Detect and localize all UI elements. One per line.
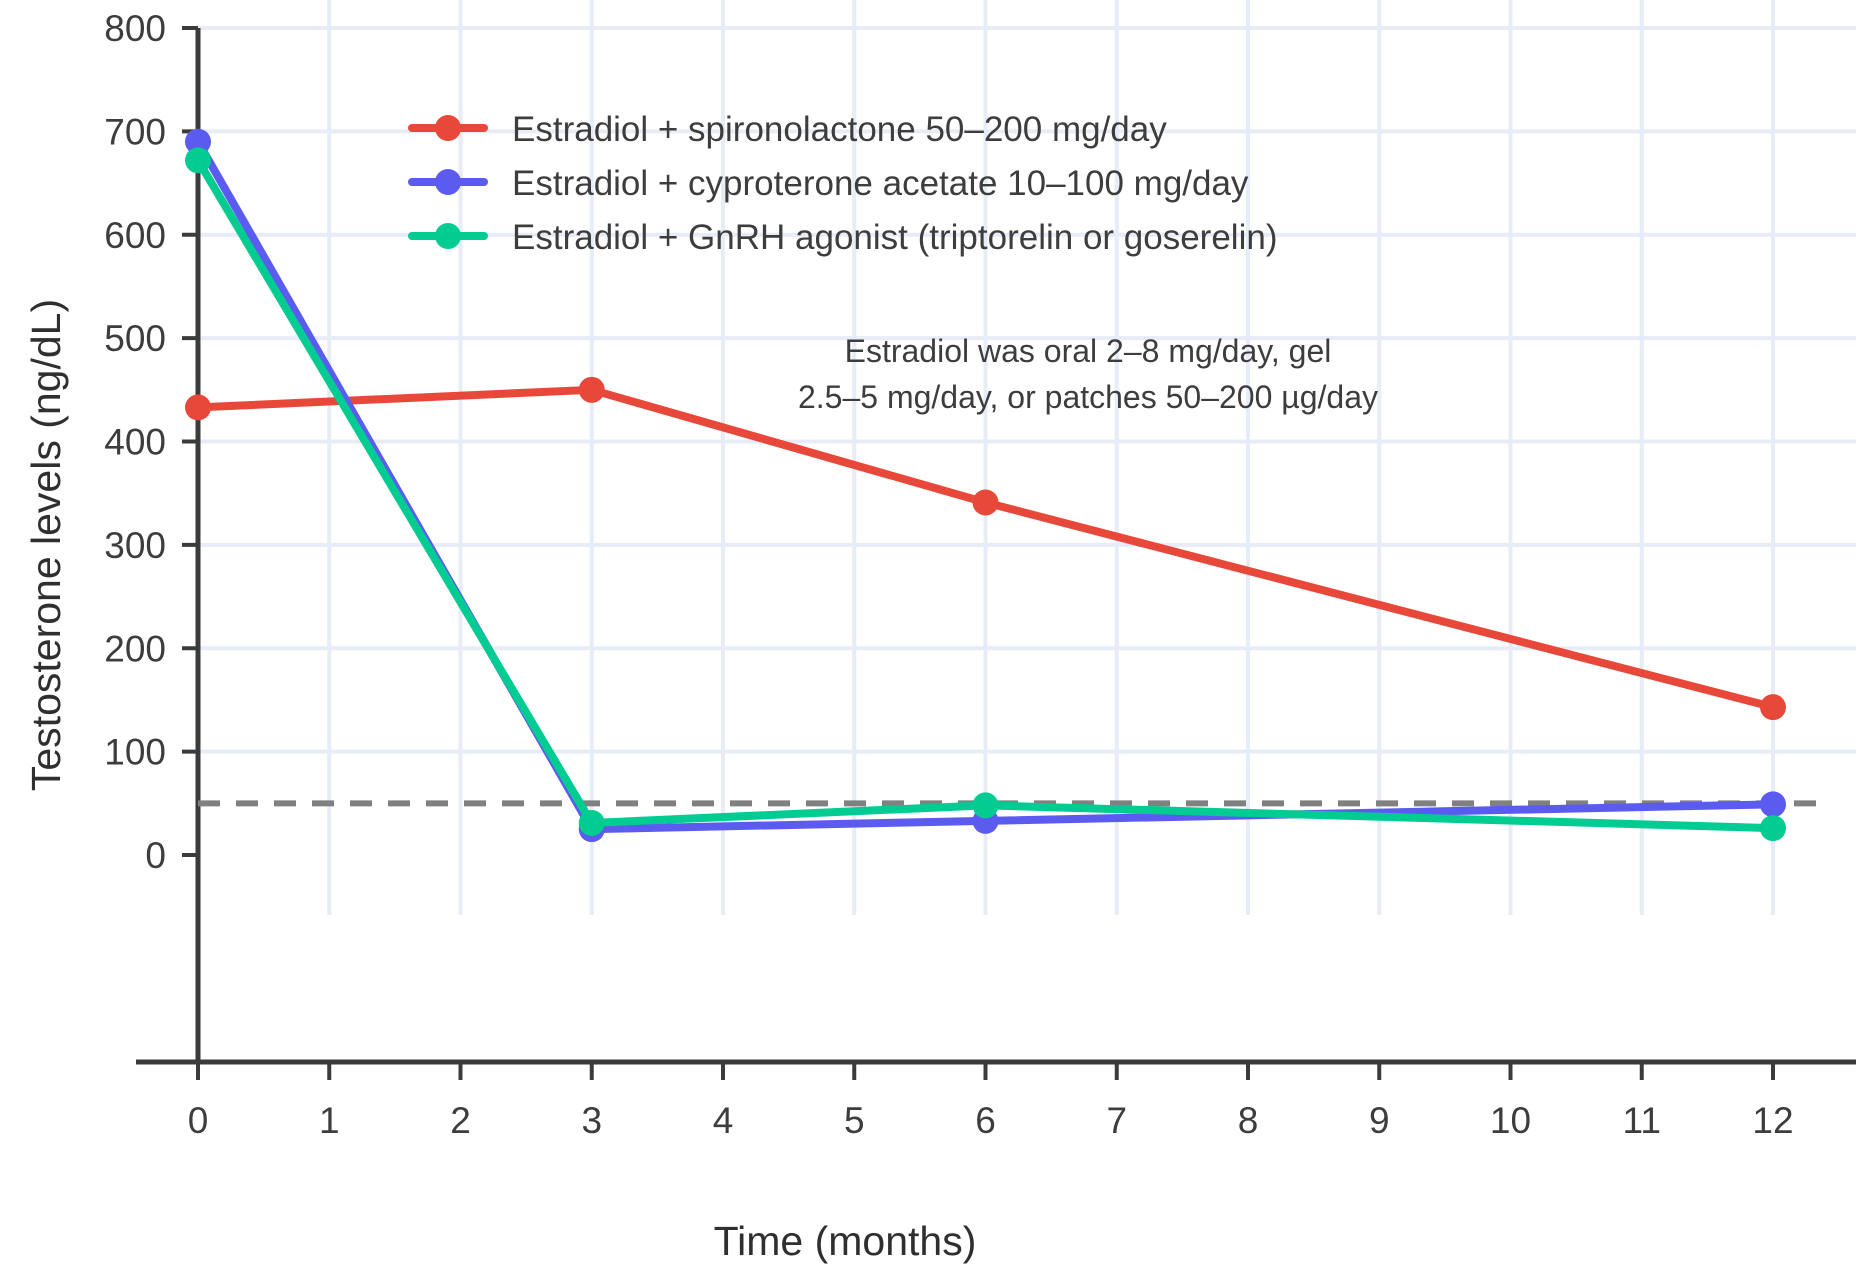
y-tick-label: 800 [104, 8, 166, 49]
y-tick-label: 400 [104, 422, 166, 463]
x-tick-label: 7 [1106, 1100, 1127, 1141]
y-tick-label: 600 [104, 215, 166, 256]
data-point [1760, 815, 1786, 841]
x-axis-title: Time (months) [714, 1218, 977, 1264]
x-tick-label: 5 [844, 1100, 865, 1141]
legend-swatch-marker [435, 223, 461, 249]
x-tick-label: 3 [581, 1100, 602, 1141]
legend-item-2[interactable]: Estradiol + cyproterone acetate 10–100 m… [412, 164, 1249, 203]
data-point [973, 489, 999, 515]
x-tick-label: 2 [450, 1100, 471, 1141]
x-tick-label: 11 [1623, 1100, 1661, 1141]
legend-item-3[interactable]: Estradiol + GnRH agonist (triptorelin or… [412, 218, 1277, 257]
x-tick-label: 6 [975, 1100, 996, 1141]
data-point [1760, 791, 1786, 817]
legend[interactable]: Estradiol + spironolactone 50–200 mg/day… [412, 110, 1277, 257]
data-point [185, 394, 211, 420]
annotation-line-1: Estradiol was oral 2–8 mg/day, gel [845, 333, 1332, 369]
data-point [579, 810, 605, 836]
legend-item-label: Estradiol + cyproterone acetate 10–100 m… [512, 164, 1249, 203]
y-tick-label: 0 [145, 835, 166, 876]
data-point [185, 147, 211, 173]
data-point [1760, 694, 1786, 720]
y-tick-label: 200 [104, 628, 166, 669]
x-tick-label: 4 [713, 1100, 734, 1141]
data-point [579, 377, 605, 403]
y-tick-label: 500 [104, 318, 166, 359]
chart-container: 8007006005004003002001000 01234567891011… [0, 0, 1856, 1284]
y-tick-label: 300 [104, 525, 166, 566]
y-axis-title: Testosterone levels (ng/dL) [23, 299, 69, 791]
legend-item-1[interactable]: Estradiol + spironolactone 50–200 mg/day [412, 110, 1167, 149]
x-tick-label: 9 [1369, 1100, 1390, 1141]
legend-item-label: Estradiol + spironolactone 50–200 mg/day [512, 110, 1167, 149]
x-tick-label: 10 [1490, 1100, 1531, 1141]
testosterone-line-chart: 8007006005004003002001000 01234567891011… [0, 0, 1856, 1284]
annotation-line-2: 2.5–5 mg/day, or patches 50–200 µg/day [798, 379, 1378, 415]
y-tick-label: 100 [104, 732, 166, 773]
legend-swatch-marker [435, 115, 461, 141]
x-tick-label: 1 [319, 1100, 340, 1141]
y-tick-label: 700 [104, 111, 166, 152]
data-point [973, 792, 999, 818]
x-tick-label: 8 [1238, 1100, 1259, 1141]
legend-swatch-marker [435, 169, 461, 195]
x-tick-label: 12 [1752, 1100, 1793, 1141]
legend-item-label: Estradiol + GnRH agonist (triptorelin or… [512, 218, 1277, 257]
x-tick-label: 0 [188, 1100, 209, 1141]
